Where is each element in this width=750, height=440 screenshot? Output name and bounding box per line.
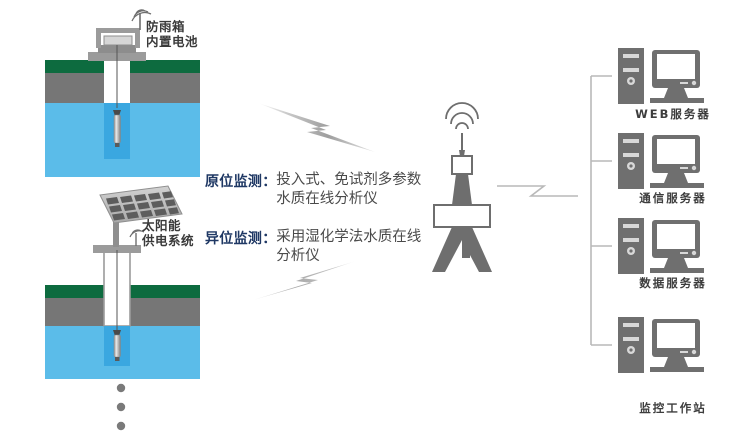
monitoring-ex-situ-key: 异位监测: [205, 228, 262, 248]
monitor-stand: [664, 173, 688, 183]
monitor-stand: [664, 258, 688, 268]
monitor-led: [692, 81, 696, 85]
server-label-station: 监控工作站: [608, 400, 738, 416]
monitoring-in-situ-key: 原位监测: [205, 171, 262, 191]
site-note-rainproof-line1: 防雨箱: [146, 19, 198, 34]
monitoring-ex-situ-value: 采用湿化学法水质在线分析仪: [276, 228, 426, 266]
cabinet-top: [96, 28, 140, 33]
case-slot-2: [623, 238, 639, 242]
monitor-stand: [664, 88, 688, 98]
power-button-core: [629, 348, 632, 351]
cabinet-right-post: [135, 28, 140, 48]
lightning-link-1: [258, 103, 375, 152]
wave-1: [456, 123, 468, 129]
monitoring-in-situ-value: 投入式、免试剂多参数水质在线分析仪: [276, 171, 426, 209]
monitor-base: [650, 367, 704, 372]
monitor-screen: [657, 323, 695, 348]
monitor-screen: [657, 224, 695, 249]
diagram-canvas: [0, 0, 750, 440]
tower-deck: [434, 205, 490, 227]
tower-upper-mast: [452, 174, 472, 205]
tower-upper-box: [452, 156, 472, 174]
site-note-rainproof-line2: 内置电池: [146, 34, 198, 49]
monitor-base: [650, 268, 704, 273]
probe-tip: [115, 143, 120, 147]
power-button-core: [629, 164, 632, 167]
case-slot-2: [623, 153, 639, 157]
monitor-led-strip: [680, 167, 688, 169]
probe-tip: [115, 357, 120, 361]
server-label-web: WEB服务器: [608, 106, 738, 122]
server-icon-web: [618, 48, 704, 104]
wireless-link-upper: [258, 103, 375, 152]
site-note-rainproof: 防雨箱 内置电池: [146, 19, 198, 49]
topology-svg: [0, 0, 750, 440]
case-slot-1: [623, 54, 639, 58]
monitoring-item-in-situ: 原位监测：投入式、免试剂多参数水质在线分析仪: [205, 171, 426, 209]
probe-body: [114, 335, 121, 357]
communication-tower: [432, 103, 492, 272]
monitoring-in-situ-colon: ：: [262, 174, 276, 190]
monitor-screen: [657, 139, 695, 164]
monitor-led: [692, 166, 696, 170]
tower-wifi-waves: [446, 103, 478, 129]
monitoring-ex-situ-colon: ：: [262, 231, 276, 247]
zigzag-connector: [497, 186, 578, 196]
case-slot-1: [623, 224, 639, 228]
monitor-base: [650, 98, 704, 103]
monitor-led-strip: [680, 351, 688, 353]
monitor-led: [692, 350, 696, 354]
server-label-data: 数据服务器: [608, 275, 738, 291]
more-sites-ellipsis: [117, 384, 125, 430]
workstation-icon-monitor: [618, 317, 704, 373]
monitor-base: [650, 183, 704, 188]
wave-3: [446, 103, 478, 119]
case-slot-1: [623, 323, 639, 327]
monitor-led: [692, 251, 696, 255]
wireless-link-lower: [253, 261, 356, 300]
power-button-core: [629, 79, 632, 82]
site-note-solar-line2: 供电系统: [142, 233, 194, 248]
server-label-comm: 通信服务器: [608, 190, 738, 206]
battery-pack: [104, 36, 132, 45]
probe-body: [114, 115, 121, 143]
monitor-led-strip: [680, 82, 688, 84]
server-icon-data: [618, 218, 704, 274]
monitor-screen: [657, 54, 695, 79]
monitor-stand: [664, 357, 688, 367]
lightning-link-2: [253, 261, 356, 300]
power-button-core: [629, 249, 632, 252]
monitoring-item-ex-situ: 异位监测：采用湿化学法水质在线分析仪: [205, 228, 426, 266]
site-solar-well: [45, 186, 200, 379]
site-note-solar: 太阳能 供电系统: [142, 218, 194, 248]
case-slot-2: [623, 68, 639, 72]
case-slot-2: [623, 337, 639, 341]
tower-to-bus-link: [497, 186, 578, 196]
cabinet-left-post: [96, 28, 101, 48]
site-note-solar-line1: 太阳能: [142, 218, 194, 233]
case-slot-1: [623, 139, 639, 143]
monitor-led-strip: [680, 252, 688, 254]
tower-core: [462, 227, 470, 258]
server-icon-comm: [618, 133, 704, 189]
water-probe-1: [113, 110, 121, 147]
